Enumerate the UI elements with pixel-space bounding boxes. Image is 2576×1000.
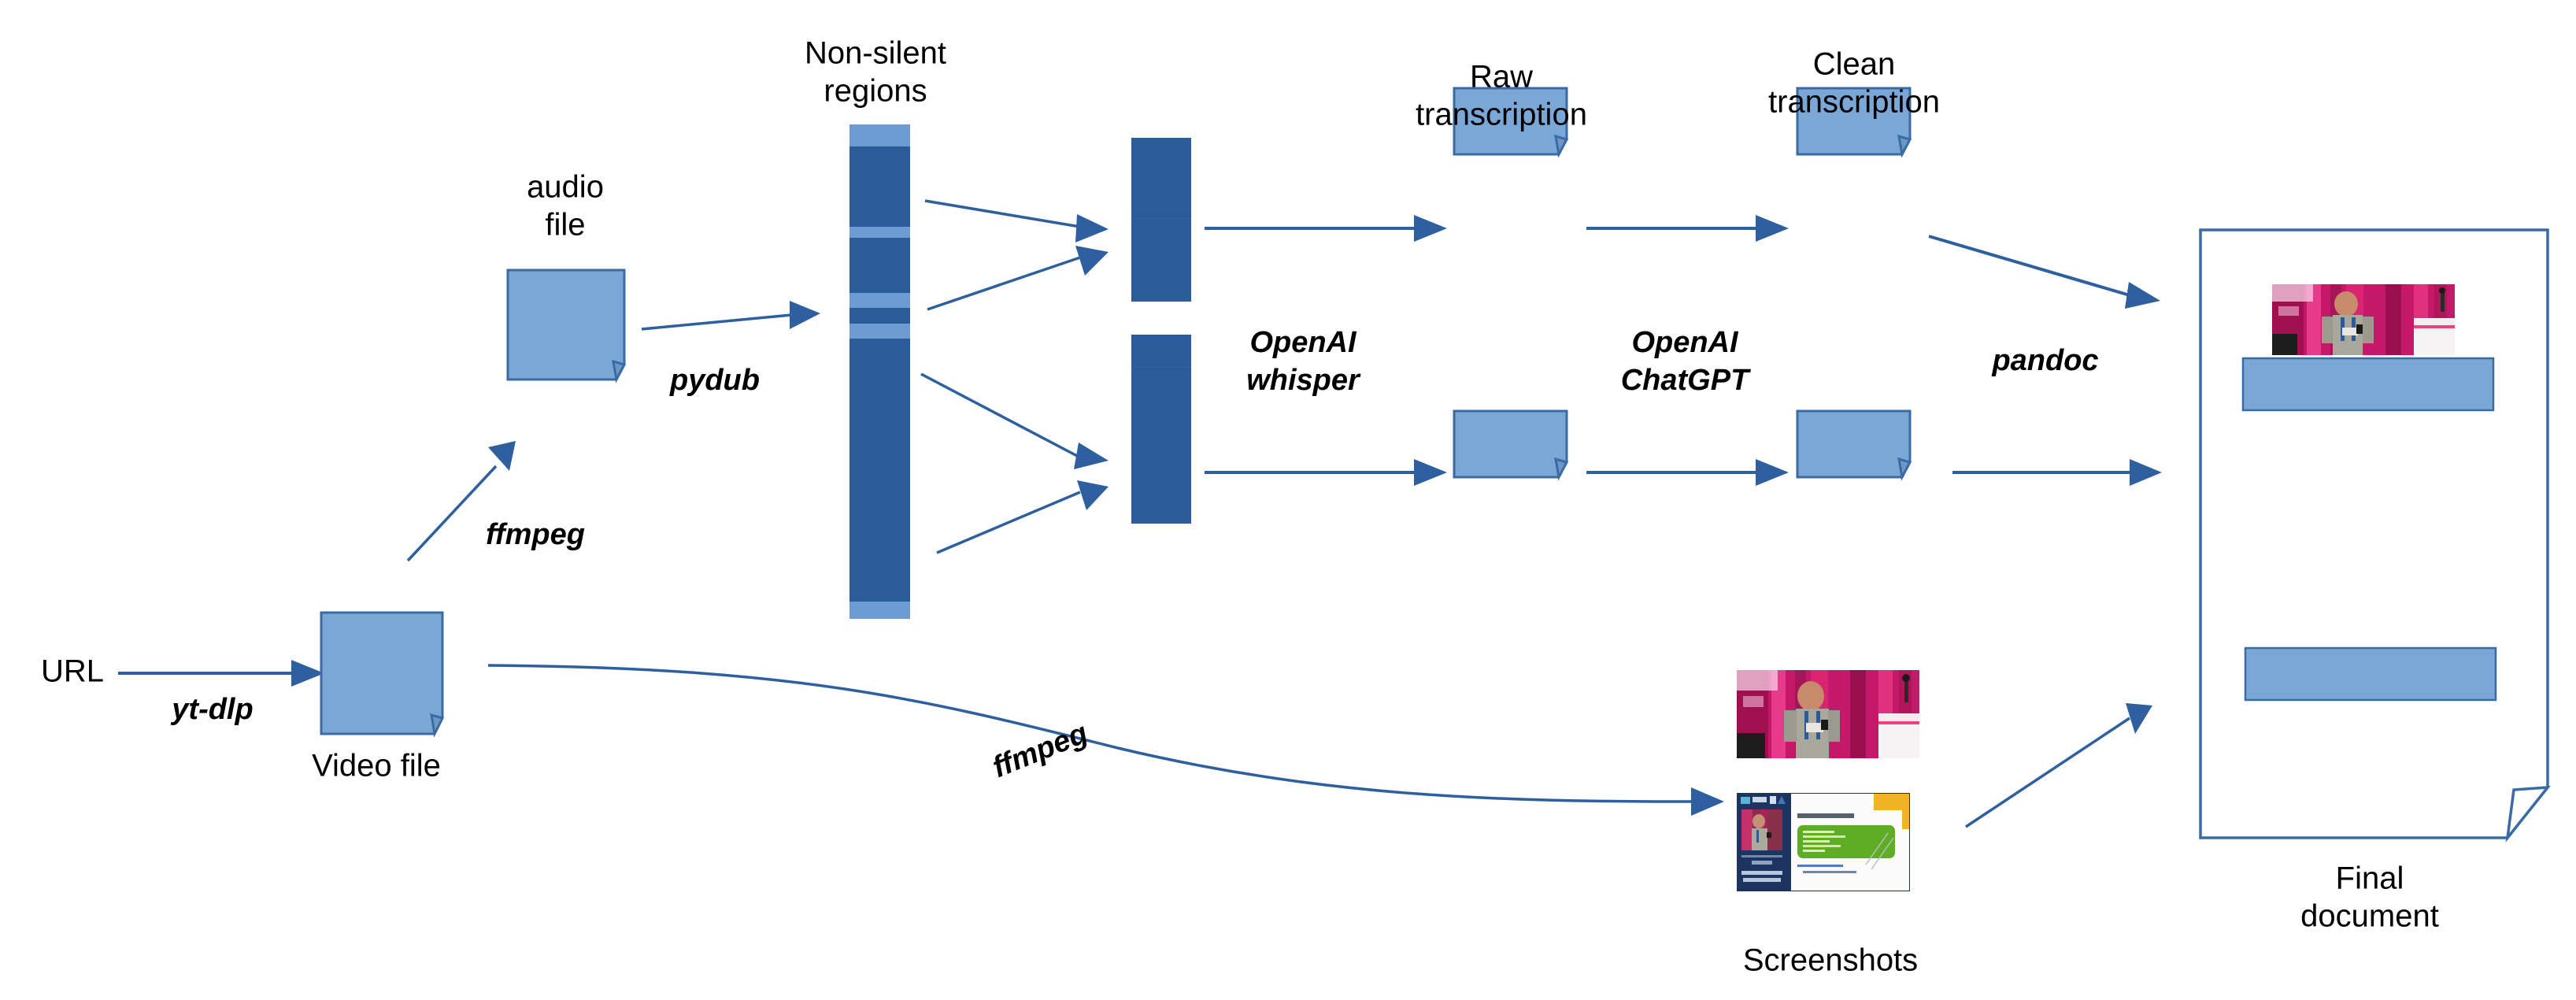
node-clean-transcription-bottom[interactable] — [1797, 411, 1910, 477]
label-tool-whisper-line2: whisper — [1246, 364, 1361, 397]
connector-raw-to-clean-bottom — [1586, 459, 1789, 486]
connector-clean-to-final-bottom — [1952, 459, 2162, 486]
label-nonsilent-line1: Non-silent — [805, 36, 946, 71]
label-tool-yt-dlp: yt-dlp — [170, 693, 253, 726]
node-audio-segment-2[interactable] — [1131, 335, 1191, 524]
label-raw-transcription-line2: transcription — [1416, 98, 1587, 132]
label-audio-file-line1: audio — [527, 170, 604, 205]
label-nonsilent-line2: regions — [824, 74, 927, 109]
final-doc-text-block-2 — [2245, 648, 2496, 700]
label-video-file: Video file — [312, 749, 441, 783]
final-doc-text-block-1 — [2243, 358, 2493, 410]
node-audio-segment-1[interactable] — [1131, 138, 1191, 302]
label-raw-transcription-line1: Raw — [1470, 60, 1533, 94]
connector-raw-to-clean-top — [1586, 215, 1789, 242]
connector-url-to-video — [118, 660, 324, 687]
connector-clean-to-final-top — [1929, 236, 2160, 309]
label-tool-chatgpt-line2: ChatGPT — [1621, 364, 1751, 397]
label-url: URL — [41, 654, 104, 689]
connector-nonsilent-to-segment2-a — [921, 374, 1108, 469]
label-tool-ffmpeg-frames: ffmpeg — [988, 717, 1093, 784]
label-final-document-line1: Final — [2336, 861, 2404, 896]
pipeline-diagram: URL Video file audio file Non-silent reg… — [0, 0, 2576, 1000]
label-final-document-line2: document — [2300, 899, 2439, 934]
connector-nonsilent-to-segment2-b — [937, 480, 1108, 553]
label-clean-transcription-line2: transcription — [1768, 85, 1940, 120]
node-raw-transcription-bottom[interactable] — [1454, 411, 1567, 477]
screenshot-thumbnail-speaker[interactable] — [1737, 670, 1919, 758]
label-tool-pydub: pydub — [669, 364, 760, 397]
label-tool-whisper-line1: OpenAI — [1249, 326, 1357, 359]
connector-audio-to-nonsilent — [642, 301, 820, 329]
label-tool-ffmpeg-audio: ffmpeg — [486, 518, 585, 551]
final-doc-photo — [2272, 284, 2455, 355]
connector-screenshots-to-final — [1966, 703, 2152, 827]
connector-segment2-to-raw — [1205, 459, 1447, 486]
node-nonsilent-regions-bar[interactable] — [849, 124, 910, 619]
node-audio-file[interactable] — [508, 270, 624, 380]
label-tool-pandoc: pandoc — [1991, 344, 2098, 377]
connector-nonsilent-to-segment1-a — [925, 201, 1108, 243]
diagram-canvas: URL Video file audio file Non-silent reg… — [0, 0, 2576, 1000]
label-clean-transcription-line1: Clean — [1813, 47, 1896, 82]
connector-segment1-to-raw — [1205, 215, 1447, 242]
screenshot-thumbnail-slide[interactable] — [1737, 793, 1910, 891]
node-final-document[interactable] — [2200, 230, 2548, 838]
label-audio-file-line2: file — [545, 208, 585, 243]
connector-nonsilent-to-segment1-b — [927, 246, 1108, 309]
node-video-file[interactable] — [321, 613, 442, 734]
connector-video-to-screenshots — [488, 665, 1724, 816]
label-tool-chatgpt-line1: OpenAI — [1631, 326, 1739, 359]
label-screenshots: Screenshots — [1743, 943, 1918, 978]
